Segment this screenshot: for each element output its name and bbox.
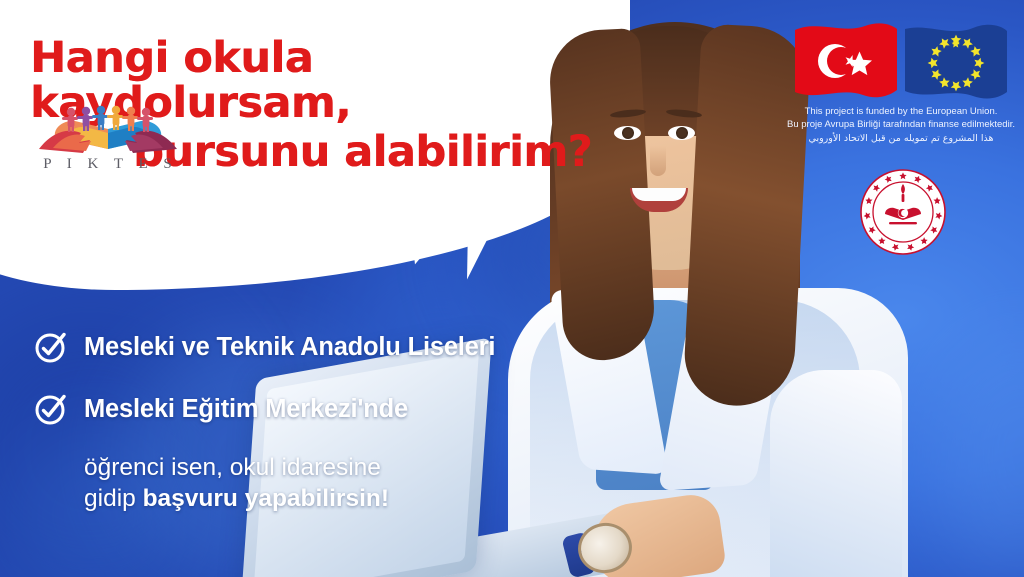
turkey-flag-icon — [793, 20, 899, 102]
arm-right — [770, 370, 902, 577]
iris-left — [622, 127, 634, 139]
list-item: Mesleki Eğitim Merkezi'nde — [34, 392, 554, 426]
meb-seal-icon — [859, 168, 947, 256]
check-circle-icon — [34, 392, 68, 426]
check-circle-icon — [34, 330, 68, 364]
list-item: Mesleki ve Teknik Anadolu Liseleri — [34, 330, 554, 364]
eu-flag-icon — [903, 20, 1009, 102]
poster-canvas: Hangi okula kaydolursam, bursunu alabili… — [0, 0, 1024, 577]
funding-text-ar: هذا المشروع تم تمويله من قبل الاتحاد الأ… — [786, 133, 1016, 146]
benefits-list: Mesleki ve Teknik Anadolu Liseleri Mesle… — [34, 330, 554, 454]
flags-group — [793, 20, 1009, 102]
list-item-label: Mesleki ve Teknik Anadolu Liseleri — [84, 333, 495, 362]
piktes-wordmark: P I K T E S — [33, 156, 183, 173]
cta-line-2: gidip başvuru yapabilirsin! — [84, 483, 564, 514]
call-to-action-text: öğrenci isen, okul idaresine gidip başvu… — [84, 452, 564, 515]
teeth — [632, 188, 686, 201]
background-blob — [930, 330, 1024, 577]
cta-line-1: öğrenci isen, okul idaresine — [84, 452, 564, 483]
piktes-logo: P I K T E S — [33, 103, 183, 175]
piktes-logo-icon — [33, 103, 183, 157]
eye-right — [668, 126, 695, 140]
nose — [650, 146, 666, 176]
cta-line-2-bold: başvuru yapabilirsin! — [143, 485, 389, 512]
cta-line-2-normal: gidip — [84, 485, 143, 512]
funding-statement: This project is funded by the European U… — [786, 106, 1016, 145]
eye-left — [614, 126, 641, 140]
funding-text-en: This project is funded by the European U… — [786, 106, 1016, 119]
iris-right — [676, 127, 688, 139]
list-item-label: Mesleki Eğitim Merkezi'nde — [84, 395, 408, 424]
funding-text-tr: Bu proje Avrupa Birliği tarafından finan… — [786, 119, 1016, 132]
